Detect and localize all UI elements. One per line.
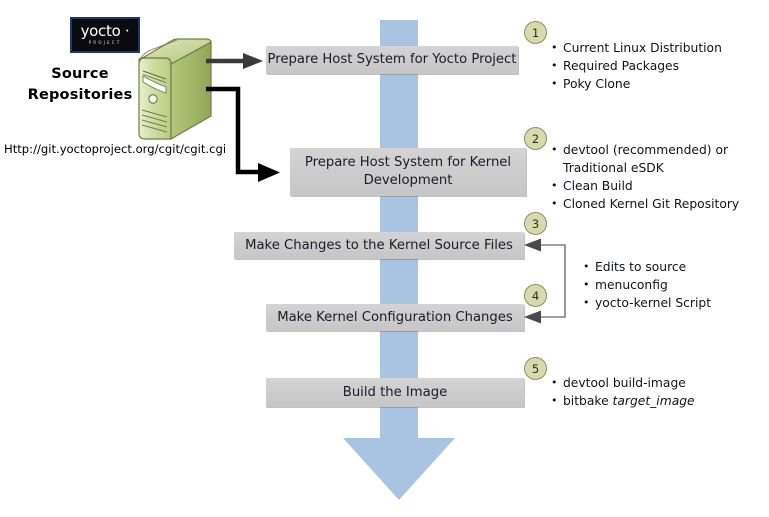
bullet-item: devtool build-image: [551, 375, 695, 393]
bullet-item: Edits to source: [583, 259, 711, 277]
step-5-bullets: devtool build-image bitbake target_image: [551, 375, 695, 411]
step-number-badge-1: 1: [524, 21, 547, 44]
process-box-step-2-line2: Development: [364, 172, 453, 190]
step-number-badge-5: 5: [524, 357, 547, 380]
bullet-italic-target: target_image: [613, 394, 695, 408]
bullet-item: yocto-kernel Script: [583, 295, 711, 313]
bullet-item-continuation: Traditional eSDK: [551, 160, 739, 178]
process-box-step-3[interactable]: Make Changes to the Kernel Source Files: [234, 232, 524, 259]
process-box-step-4[interactable]: Make Kernel Configuration Changes: [266, 304, 524, 331]
step-1-bullets: Current Linux Distribution Required Pack…: [551, 40, 722, 94]
step-number-badge-3: 3: [524, 212, 547, 235]
bullet-item: Cloned Kernel Git Repository: [551, 196, 739, 214]
process-box-step-5[interactable]: Build the Image: [266, 378, 524, 407]
bullet-item: Clean Build: [551, 178, 739, 196]
step-number-badge-4: 4: [524, 284, 547, 307]
bullet-text: bitbake: [563, 394, 613, 408]
bullet-item: Poky Clone: [551, 76, 722, 94]
process-box-step-1[interactable]: Prepare Host System for Yocto Project: [266, 46, 518, 74]
bullet-item: Required Packages: [551, 58, 722, 76]
bullet-item: Current Linux Distribution: [551, 40, 722, 58]
bullet-item: devtool (recommended) or: [551, 142, 739, 160]
step-2-bullets: devtool (recommended) or Traditional eSD…: [551, 142, 739, 214]
process-box-step-2[interactable]: Prepare Host System for Kernel Developme…: [290, 148, 526, 196]
bullet-item-bitbake: bitbake target_image: [551, 393, 695, 411]
diagram-canvas: yocto · PROJECT: [0, 0, 769, 517]
loop-bullets: Edits to source menuconfig yocto-kernel …: [583, 259, 711, 313]
step-number-badge-2: 2: [524, 127, 547, 150]
process-box-step-2-line1: Prepare Host System for Kernel: [305, 154, 511, 172]
bullet-item: menuconfig: [583, 277, 711, 295]
